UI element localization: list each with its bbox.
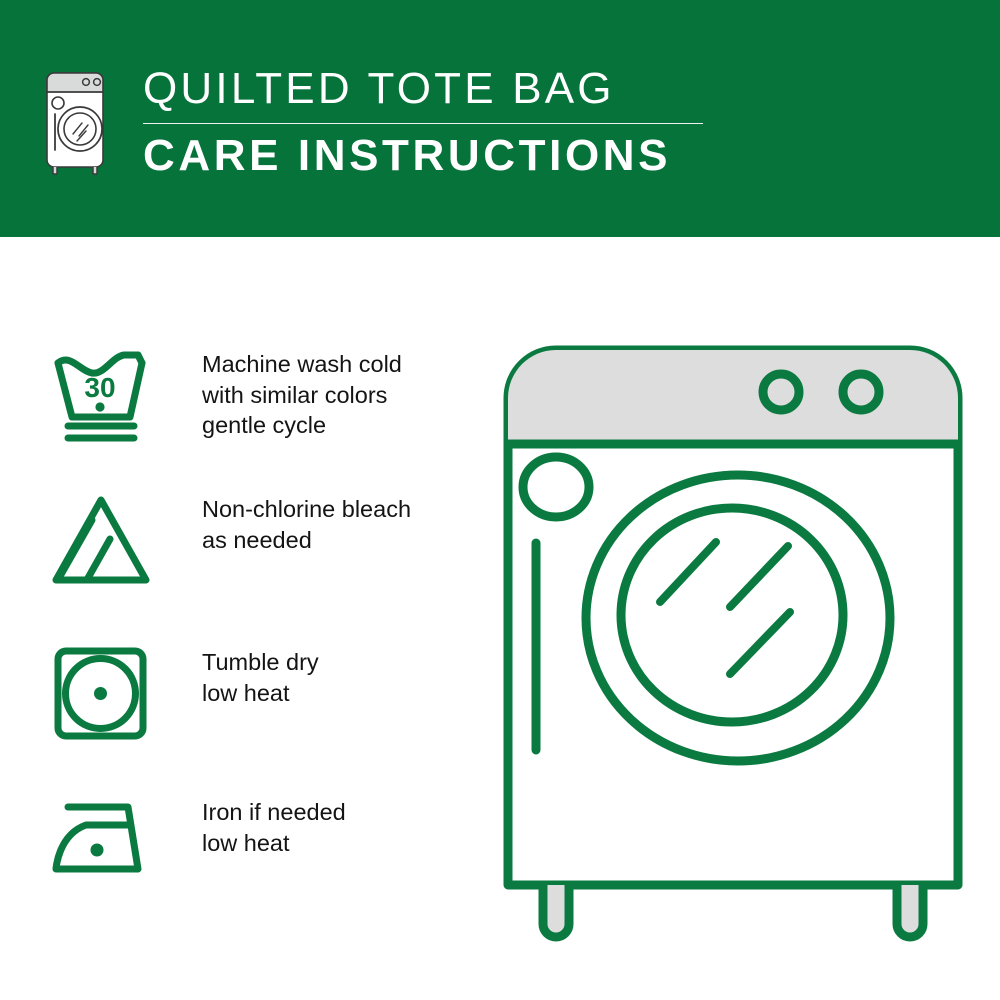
- title-divider: [143, 123, 703, 124]
- wash-tub-30-gentle-icon: 30: [50, 347, 160, 447]
- iron-low-heat-icon: [50, 795, 160, 895]
- care-row-bleach: Non-chlorine bleach as needed: [50, 492, 411, 592]
- care-label-bleach: Non-chlorine bleach as needed: [202, 492, 411, 555]
- wash-temperature-label: 30: [84, 372, 115, 403]
- non-chlorine-bleach-triangle-icon: [50, 492, 160, 592]
- care-label-iron: Iron if needed low heat: [202, 795, 346, 858]
- front-load-washing-machine-illustration: [488, 330, 978, 945]
- header-title-block: QUILTED TOTE BAG CARE INSTRUCTIONS: [143, 66, 703, 179]
- tumble-dry-low-icon: [50, 645, 160, 745]
- leg-right: [897, 885, 923, 937]
- care-instructions-page: QUILTED TOTE BAG CARE INSTRUCTIONS 30 Ma…: [0, 0, 1000, 1000]
- care-label-wash: Machine wash cold with similar colors ge…: [202, 347, 402, 441]
- washing-machine-icon: [42, 68, 108, 176]
- care-symbol-list: 30 Machine wash cold with similar colors…: [0, 237, 480, 1000]
- care-row-tumble-dry: Tumble dry low heat: [50, 645, 319, 745]
- page-title: QUILTED TOTE BAG: [143, 66, 703, 113]
- leg-left: [543, 885, 569, 937]
- care-row-wash: 30 Machine wash cold with similar colors…: [50, 347, 402, 447]
- header-banner: QUILTED TOTE BAG CARE INSTRUCTIONS: [0, 0, 1000, 237]
- care-label-tumble-dry: Tumble dry low heat: [202, 645, 319, 708]
- control-panel: [508, 350, 958, 444]
- page-subtitle: CARE INSTRUCTIONS: [143, 133, 703, 180]
- care-row-iron: Iron if needed low heat: [50, 795, 346, 895]
